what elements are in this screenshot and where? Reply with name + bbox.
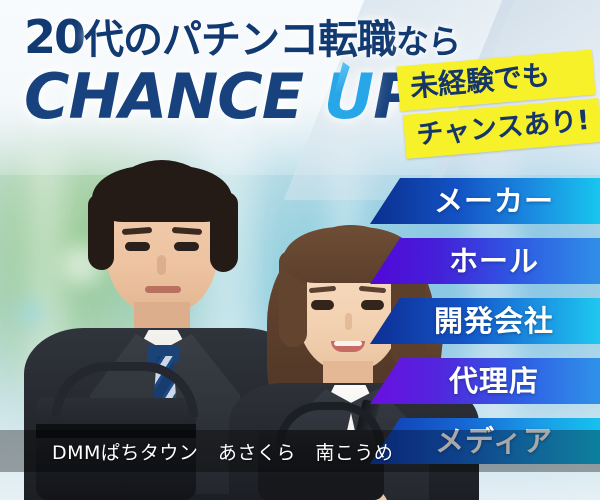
credit-text: DMMぱちタウン あさくら 南こうめ xyxy=(0,438,393,465)
category-label-hall: ホール xyxy=(431,247,539,276)
headline-line-1-main: 代のパチンコ転職 xyxy=(84,17,396,63)
category-button-hall[interactable]: ホール xyxy=(370,238,600,284)
category-label-development-company: 開発会社 xyxy=(416,307,554,336)
logo-letter-u-accent: U xyxy=(324,66,373,128)
male-mouth xyxy=(145,286,181,293)
category-list: メーカー ホール 開発会社 代理店 メディア xyxy=(370,178,600,464)
female-nose xyxy=(345,313,352,330)
headline-block: 20代のパチンコ転職なら CHANCE UP xyxy=(24,14,460,128)
pachinko-job-banner[interactable]: 20代のパチンコ転職なら CHANCE UP 未経験でも チャンスあり! メーカ… xyxy=(0,0,600,500)
headline-age-number: 20 xyxy=(24,10,84,64)
headline-line-1: 20代のパチンコ転職なら xyxy=(24,14,460,60)
credit-bar: DMMぱちタウン あさくら 南こうめ xyxy=(0,430,600,472)
category-label-maker: メーカー xyxy=(416,187,554,216)
headline-line-1-suffix: なら xyxy=(396,22,460,61)
highlight-badges: 未経験でも チャンスあり! xyxy=(398,58,594,147)
category-button-maker[interactable]: メーカー xyxy=(370,178,600,224)
category-button-development-company[interactable]: 開発会社 xyxy=(370,298,600,344)
male-nose xyxy=(157,255,166,275)
category-label-agency: 代理店 xyxy=(431,367,539,396)
female-teeth xyxy=(334,341,362,346)
logo-text-chance: CHANCE xyxy=(24,60,324,133)
category-button-agency[interactable]: 代理店 xyxy=(370,358,600,404)
male-hair-fringe xyxy=(92,166,232,222)
female-eye-left xyxy=(311,300,334,310)
chance-up-logo: CHANCE UP xyxy=(24,66,460,128)
male-eye-left xyxy=(125,242,150,251)
male-eye-right xyxy=(174,242,199,251)
